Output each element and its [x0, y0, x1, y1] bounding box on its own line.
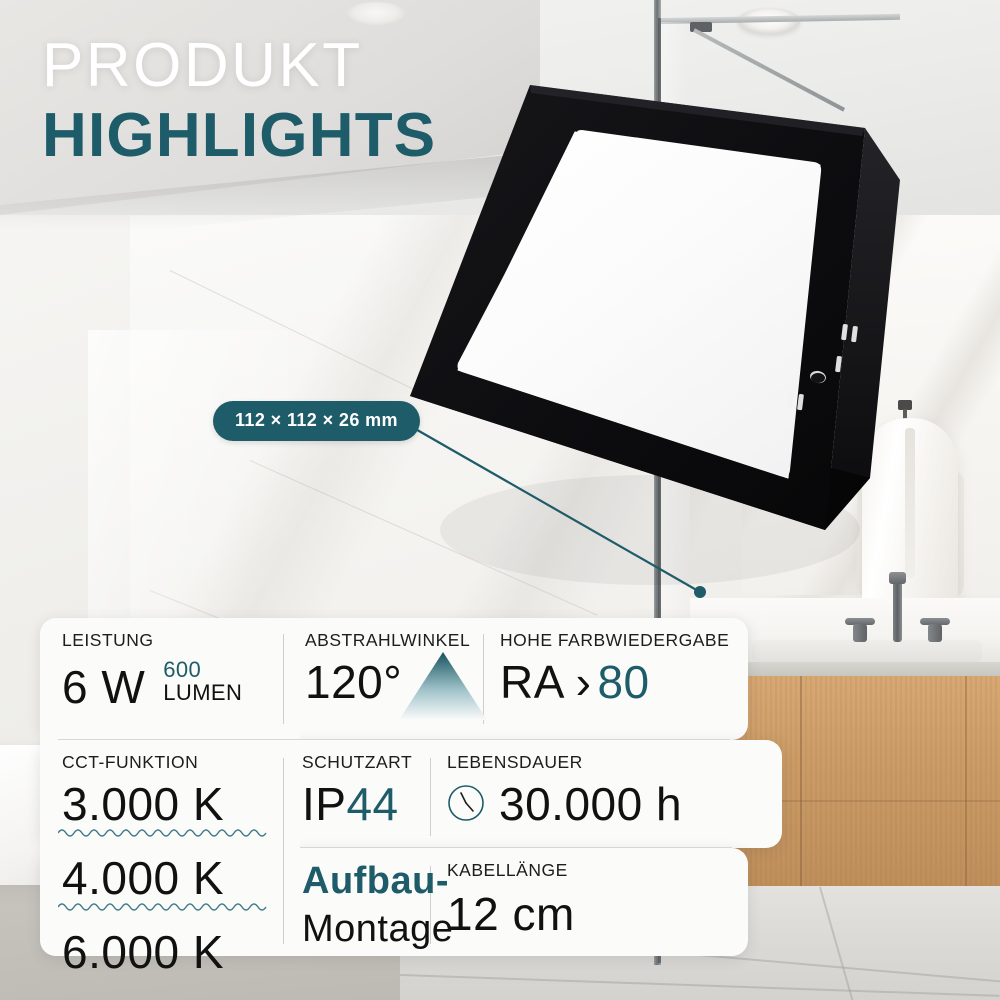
cct-wave-divider-1 — [58, 827, 268, 837]
lifetime-value: 30.000 h — [499, 781, 682, 827]
spec-cell-lifetime: LEBENSDAUER 30.000 h — [447, 752, 682, 827]
mounting-line-1: Aufbau- — [302, 862, 453, 900]
product-led-panel-image — [400, 60, 900, 640]
mounting-line-2: Montage — [302, 910, 453, 948]
spec-cell-cct: CCT-FUNKTION 3.000 K 4.000 K 6.000 K — [62, 752, 224, 975]
spec-cell-mounting: Aufbau- Montage — [302, 862, 453, 948]
cri-value-number: 80 — [597, 659, 649, 705]
cct-wave-divider-2 — [58, 901, 268, 911]
spec-cell-cable-length: KABELLÄNGE 12 cm — [447, 860, 575, 937]
cct-value-2: 4.000 K — [62, 855, 224, 901]
beam-angle-label: ABSTRAHLWINKEL — [305, 630, 470, 651]
clock-icon — [447, 784, 485, 822]
title-line-2: HIGHLIGHTS — [42, 103, 436, 170]
bathrobe-lapel — [905, 428, 915, 578]
cri-label: HOHE FARBWIEDERGABE — [500, 630, 729, 651]
recessed-downlight-icon — [345, 2, 407, 26]
power-label: LEISTUNG — [62, 630, 242, 651]
spec-cell-protection: SCHUTZART IP 44 — [302, 752, 412, 827]
sink-basin — [752, 640, 982, 662]
title-line-1: PRODUKT — [42, 34, 436, 97]
page-title: PRODUKT HIGHLIGHTS — [42, 34, 436, 170]
cct-value-1: 3.000 K — [62, 781, 224, 827]
power-lumen-unit: LUMEN — [163, 682, 242, 704]
cct-value-3: 6.000 K — [62, 929, 224, 975]
beam-triangle-icon — [397, 650, 489, 722]
spec-cell-cri: HOHE FARBWIEDERGABE RA › 80 — [500, 630, 729, 705]
spec-cell-power: LEISTUNG 6 W 600 LUMEN — [62, 630, 242, 710]
spec-divider-vertical — [430, 758, 431, 836]
spec-divider-horizontal — [300, 847, 732, 848]
power-value: 6 W — [62, 664, 145, 710]
cable-value: 12 cm — [447, 891, 575, 937]
cable-label: KABELLÄNGE — [447, 860, 575, 881]
dimension-badge: 112 × 112 × 26 mm — [213, 401, 420, 441]
spec-divider-vertical — [283, 758, 284, 944]
product-highlight-image: PRODUKT HIGHLIGHTS 112 × 112 × 26 mm LEI… — [0, 0, 1000, 1000]
spec-divider-vertical — [283, 634, 284, 724]
power-lumen-value: 600 — [163, 659, 242, 681]
protection-value-prefix: IP — [302, 781, 346, 827]
cct-label: CCT-FUNKTION — [62, 752, 224, 773]
cri-value-prefix: RA › — [500, 659, 591, 705]
protection-label: SCHUTZART — [302, 752, 412, 773]
vanity-seam — [800, 676, 802, 886]
floor-grout-line — [819, 887, 857, 1000]
faucet-handle-right-base — [928, 624, 942, 642]
lifetime-label: LEBENSDAUER — [447, 752, 682, 773]
vanity-seam — [965, 676, 967, 886]
protection-value-number: 44 — [346, 781, 398, 827]
power-lumen-group: 600 LUMEN — [163, 659, 242, 704]
spec-divider-horizontal — [58, 739, 730, 740]
beam-angle-value: 120° — [305, 659, 402, 705]
